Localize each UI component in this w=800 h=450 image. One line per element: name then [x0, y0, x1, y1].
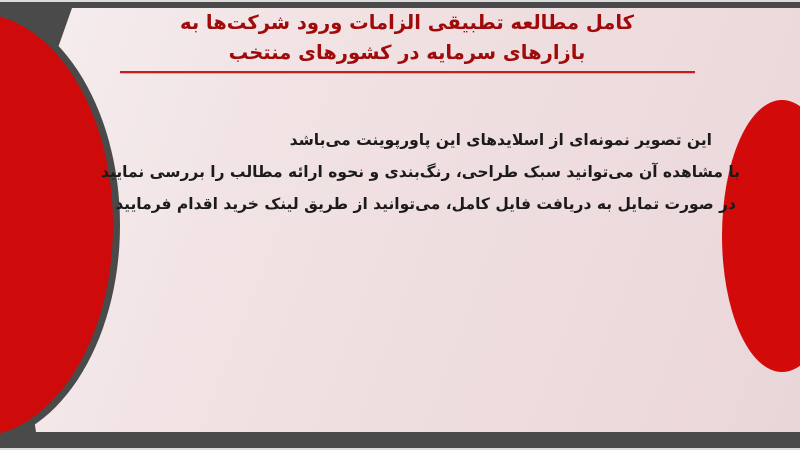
slide-title-line-1: کامل مطالعه تطبیقی الزامات ورود شرکت‌ها … — [62, 8, 752, 38]
slide-title-line-2: بازارهای سرمایه در کشورهای منتخب — [62, 38, 752, 68]
frame-top-hairline — [0, 0, 800, 2]
title-underline-rule — [120, 71, 695, 74]
slide-body-text: این تصویر نمونه‌ای از اسلایدهای این پاور… — [40, 124, 740, 220]
presentation-slide: کامل مطالعه تطبیقی الزامات ورود شرکت‌ها … — [0, 0, 800, 450]
body-text-line-1: این تصویر نمونه‌ای از اسلایدهای این پاور… — [40, 124, 740, 156]
slide-title: کامل مطالعه تطبیقی الزامات ورود شرکت‌ها … — [62, 8, 752, 74]
body-text-line-3: در صورت تمایل به دریافت فایل کامل، می‌تو… — [40, 188, 740, 220]
body-text-line-2: با مشاهده آن می‌توانید سبک طراحی، رنگ‌بن… — [40, 156, 740, 188]
